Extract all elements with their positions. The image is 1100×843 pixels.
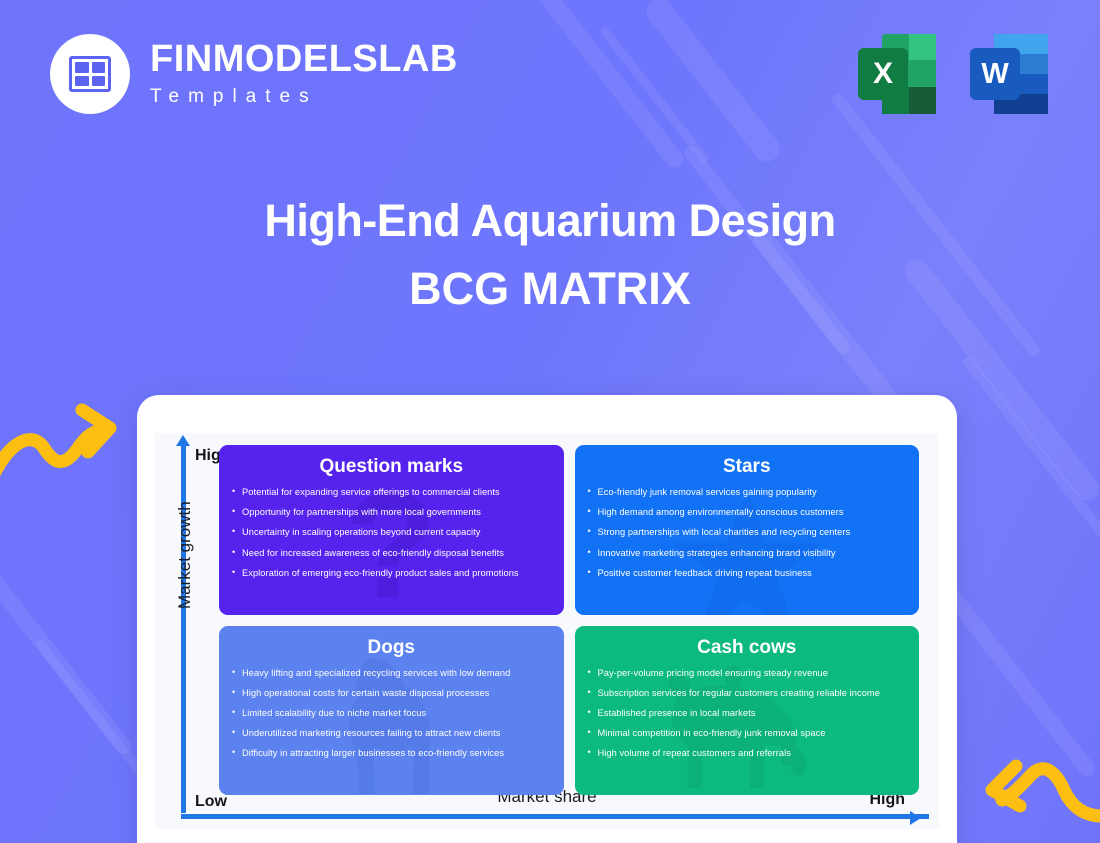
svg-text:W: W: [981, 58, 1009, 90]
quadrant-items: Eco-friendly junk removal services gaini…: [587, 487, 908, 578]
quadrant-items: Pay-per-volume pricing model ensuring st…: [587, 668, 908, 759]
list-item: Exploration of emerging eco-friendly pro…: [231, 568, 552, 579]
y-axis-line: [181, 443, 186, 813]
brand-logo[interactable]: FINMODELSLAB Templates: [50, 34, 458, 114]
quadrant-title: Dogs: [231, 637, 552, 659]
list-item: Subscription services for regular custom…: [587, 688, 908, 699]
quadrant-grid: ? Question marks Potential for expanding…: [219, 445, 919, 795]
title-block: High-End Aquarium Design BCG MATRIX: [0, 195, 1100, 315]
quadrant-title: Stars: [587, 456, 908, 478]
grid-square-icon: [69, 56, 111, 92]
list-item: High volume of repeat customers and refe…: [587, 748, 908, 759]
list-item: Pay-per-volume pricing model ensuring st…: [587, 668, 908, 679]
quadrant-items: Potential for expanding service offering…: [231, 487, 552, 578]
svg-text:X: X: [873, 57, 893, 90]
list-item: Uncertainty in scaling operations beyond…: [231, 527, 552, 538]
quadrant-items: Heavy lifting and specialized recycling …: [231, 668, 552, 759]
x-axis-arrow-icon: [910, 811, 921, 825]
word-icon[interactable]: W: [968, 30, 1052, 118]
y-axis-title: Market growth: [175, 501, 195, 609]
list-item: Innovative marketing strategies enhancin…: [587, 548, 908, 559]
quadrant-title: Question marks: [231, 456, 552, 478]
quadrant-question-marks[interactable]: ? Question marks Potential for expanding…: [219, 445, 564, 615]
list-item: Limited scalability due to niche market …: [231, 708, 552, 719]
squiggle-arrow-down-left-icon: [974, 738, 1100, 833]
file-format-icons: X W: [856, 30, 1052, 118]
quadrant-cash-cows[interactable]: Cash cows Pay-per-volume pricing model e…: [575, 626, 920, 796]
quadrant-title: Cash cows: [587, 637, 908, 659]
list-item: Heavy lifting and specialized recycling …: [231, 668, 552, 679]
page-header: FINMODELSLAB Templates X: [0, 0, 1100, 150]
x-axis-line: [181, 814, 929, 819]
list-item: Underutilized marketing resources failin…: [231, 728, 552, 739]
logo-circle: [50, 34, 130, 114]
list-item: Potential for expanding service offering…: [231, 487, 552, 498]
list-item: Positive customer feedback driving repea…: [587, 568, 908, 579]
list-item: Strong partnerships with local charities…: [587, 527, 908, 538]
bcg-matrix-panel: High Low Market growth Market share High…: [155, 433, 939, 829]
quadrant-stars[interactable]: Stars Eco-friendly junk removal services…: [575, 445, 920, 615]
list-item: High operational costs for certain waste…: [231, 688, 552, 699]
list-item: Established presence in local markets: [587, 708, 908, 719]
page-title: High-End Aquarium Design: [0, 195, 1100, 247]
matrix-card: High Low Market growth Market share High…: [137, 395, 957, 843]
brand-name: FINMODELSLAB: [150, 40, 458, 78]
list-item: Difficulty in attracting larger business…: [231, 748, 552, 759]
list-item: Eco-friendly junk removal services gaini…: [587, 487, 908, 498]
page-subtitle: BCG MATRIX: [0, 263, 1100, 315]
brand-tagline: Templates: [150, 86, 458, 108]
excel-icon[interactable]: X: [856, 30, 940, 118]
list-item: Need for increased awareness of eco-frie…: [231, 548, 552, 559]
list-item: High demand among environmentally consci…: [587, 507, 908, 518]
quadrant-dogs[interactable]: Dogs Heavy lifting and specialized recyc…: [219, 626, 564, 796]
list-item: Opportunity for partnerships with more l…: [231, 507, 552, 518]
list-item: Minimal competition in eco-friendly junk…: [587, 728, 908, 739]
squiggle-arrow-up-right-icon: [0, 402, 122, 492]
